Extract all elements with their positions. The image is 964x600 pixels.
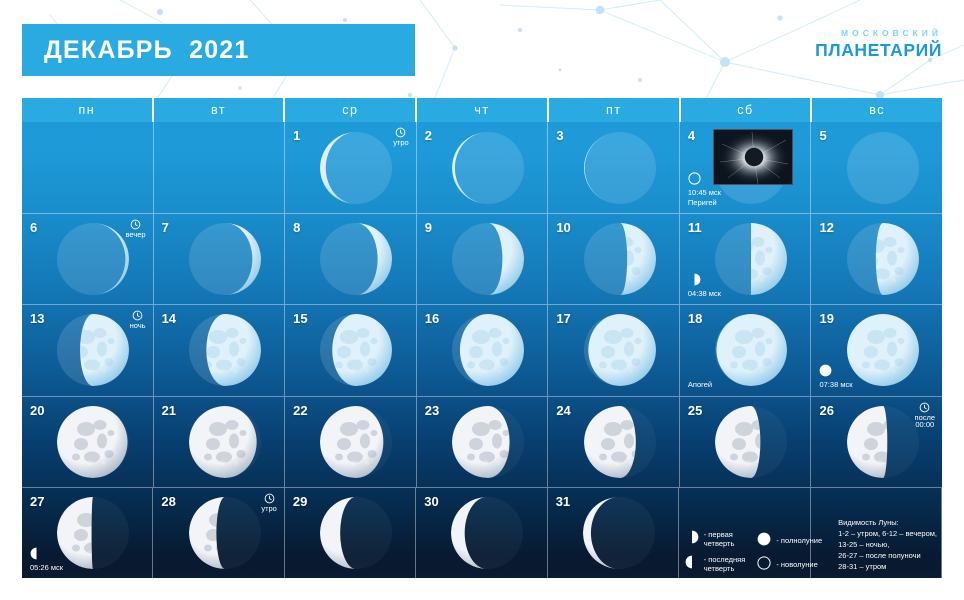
- visibility-label: утро: [261, 505, 277, 513]
- day-number: 28: [161, 494, 175, 509]
- day-number: 7: [162, 220, 169, 235]
- moon-phase-waxing-crescent: [451, 222, 525, 296]
- day-number: 24: [556, 403, 570, 418]
- note-title: Видимость Луны:: [838, 518, 937, 527]
- calendar-day-cell-19[interactable]: 1907:38 мск: [811, 305, 942, 395]
- day-number: 4: [688, 128, 695, 143]
- legend-column-full-new: - полнолуние- новолуние: [751, 532, 828, 573]
- weekday-header-пн: пн: [22, 98, 154, 122]
- calendar-day-cell-22[interactable]: 22: [285, 397, 417, 487]
- moon-visibility-note: Видимость Луны:1-2 – утром, 6-12 – вечер…: [828, 518, 937, 573]
- legend-item-last-quarter: - последняя четверть: [685, 555, 746, 573]
- logo-line-top: МОСКОВСКИЙ: [815, 28, 942, 38]
- day-number: 13: [30, 311, 44, 326]
- weekday-header-ср: ср: [285, 98, 417, 122]
- moon-phase-waning-gibbous: [188, 405, 262, 479]
- moon-phase-waning-crescent: [319, 496, 393, 570]
- day-number: 2: [425, 128, 432, 143]
- legend-item-new-moon: - новолуние: [757, 556, 822, 573]
- day-number: 3: [556, 128, 563, 143]
- visibility-label: ночь: [130, 322, 146, 330]
- calendar-grid: 1утро23410:45 мск Перигей56вечер78910110…: [22, 122, 942, 578]
- visibility-label: утро: [393, 139, 409, 147]
- calendar-day-cell-24[interactable]: 24: [548, 397, 680, 487]
- visibility-label: после 00:00: [915, 414, 936, 430]
- last-quarter-icon: [685, 555, 699, 569]
- moon-phase-waning-crescent: [188, 496, 262, 570]
- day-number: 23: [425, 403, 439, 418]
- visibility-clock-note: вечер: [126, 219, 146, 239]
- moon-phase-waning-crescent: [583, 131, 657, 205]
- clock-icon: [132, 310, 143, 321]
- day-number: 30: [424, 494, 438, 509]
- calendar-week-row: 20212223242526после 00:00: [22, 396, 942, 487]
- weekday-header-вт: вт: [154, 98, 286, 122]
- day-number: 8: [293, 220, 300, 235]
- calendar-empty-cell: [154, 122, 286, 213]
- calendar-day-cell-31[interactable]: 31: [548, 488, 679, 578]
- phase-marker-block: 04:38 мск: [688, 273, 721, 298]
- weekday-header-пт: пт: [549, 98, 681, 122]
- day-number: 6: [30, 220, 37, 235]
- calendar-day-cell-5[interactable]: 5: [811, 122, 942, 213]
- note-line: 26-27 – после полуночи: [838, 551, 937, 562]
- moon-phase-waxing-gibbous: [319, 313, 393, 387]
- calendar-day-cell-7[interactable]: 7: [154, 214, 286, 304]
- moon-phase-waxing-gibbous: [714, 313, 788, 387]
- legend-column-quarters: - первая четверть- последняя четверть: [679, 530, 752, 573]
- day-number: 19: [819, 311, 833, 326]
- solar-eclipse-photo: [713, 129, 793, 185]
- visibility-clock-note: ночь: [130, 310, 146, 330]
- clock-icon: [264, 493, 275, 504]
- calendar-day-cell-1[interactable]: 1утро: [285, 122, 417, 213]
- first-quarter-icon: [688, 273, 701, 286]
- note-line: 13-25 – ночью,: [838, 540, 937, 551]
- moon-phase-new-moon: [846, 131, 920, 205]
- moon-phase-last-quarter: [56, 496, 130, 570]
- calendar-day-cell-27[interactable]: 2705:26 мск: [22, 488, 153, 578]
- visibility-label: вечер: [126, 231, 146, 239]
- moon-phase-waxing-gibbous: [583, 313, 657, 387]
- day-number: 21: [162, 403, 176, 418]
- day-number: 18: [688, 311, 702, 326]
- day-number: 10: [556, 220, 570, 235]
- note-line: 28-31 – утром: [838, 562, 937, 573]
- day-number: 11: [688, 220, 702, 235]
- day-number: 12: [819, 220, 833, 235]
- calendar-week-row: 2705:26 мск28утро293031- первая четверть…: [22, 487, 942, 578]
- phase-time-text: 10:45 мск Перигей: [688, 188, 721, 207]
- clock-icon: [395, 127, 406, 138]
- last-quarter-icon: [30, 547, 43, 560]
- calendar-week-row: 6вечер789101104:38 мск12: [22, 213, 942, 304]
- moon-phase-waxing-gibbous: [451, 313, 525, 387]
- calendar-day-cell-10[interactable]: 10: [548, 214, 680, 304]
- weekday-header-сб: сб: [681, 98, 813, 122]
- day-number: 5: [819, 128, 826, 143]
- moon-phase-waning-gibbous: [583, 405, 657, 479]
- phase-marker-block: 05:26 мск: [30, 547, 63, 572]
- moon-phase-waxing-crescent: [583, 222, 657, 296]
- day-number: 14: [162, 311, 176, 326]
- calendar-day-cell-2[interactable]: 2: [417, 122, 549, 213]
- moon-phase-waning-gibbous: [451, 405, 525, 479]
- phase-time-text: Апогей: [688, 380, 712, 389]
- moon-phase-waxing-gibbous: [188, 313, 262, 387]
- phase-time-text: 04:38 мск: [688, 289, 721, 298]
- phase-marker-block: Апогей: [688, 380, 712, 389]
- calendar-day-cell-28[interactable]: 28утро: [153, 488, 284, 578]
- page-title: ДЕКАБРЬ 2021: [22, 36, 250, 65]
- moon-phase-waning-gibbous: [846, 405, 920, 479]
- calendar-day-cell-14[interactable]: 14: [154, 305, 286, 395]
- day-number: 22: [293, 403, 307, 418]
- calendar-day-cell-4[interactable]: 410:45 мск Перигей: [680, 122, 812, 213]
- calendar-day-cell-17[interactable]: 17: [548, 305, 680, 395]
- calendar-day-cell-18[interactable]: 18Апогей: [680, 305, 812, 395]
- moon-phase-waxing-crescent: [56, 222, 130, 296]
- calendar-day-cell-25[interactable]: 25: [680, 397, 812, 487]
- full-moon-icon: [757, 532, 771, 546]
- visibility-clock-note: утро: [261, 493, 277, 513]
- calendar-day-cell-9[interactable]: 9: [417, 214, 549, 304]
- day-number: 25: [688, 403, 702, 418]
- moon-phase-full-moon: [846, 313, 920, 387]
- legend-label: - новолуние: [776, 560, 817, 569]
- calendar-empty-cell: [22, 122, 154, 213]
- moon-phase-waning-crescent: [582, 496, 656, 570]
- moon-phase-first-quarter: [714, 222, 788, 296]
- note-line: 1-2 – утром, 6-12 – вечером,: [838, 529, 937, 540]
- month-title-banner: ДЕКАБРЬ 2021: [22, 24, 415, 76]
- logo-line-bottom: ПЛАНЕТАРИЙ: [815, 40, 942, 61]
- day-number: 17: [556, 311, 570, 326]
- moon-phase-waning-crescent: [451, 131, 525, 205]
- legend-label: - последняя четверть: [704, 555, 746, 573]
- new-moon-icon: [757, 556, 771, 570]
- calendar-day-cell-15[interactable]: 15: [285, 305, 417, 395]
- phase-marker-block: 10:45 мск Перигей: [688, 172, 721, 207]
- moon-phase-waning-gibbous: [319, 405, 393, 479]
- day-number: 16: [425, 311, 439, 326]
- phase-marker-block: 07:38 мск: [819, 364, 852, 389]
- calendar-day-cell-3[interactable]: 3: [548, 122, 680, 213]
- calendar-day-cell-13[interactable]: 13ночь: [22, 305, 154, 395]
- day-number: 26: [819, 403, 833, 418]
- day-number: 9: [425, 220, 432, 235]
- calendar-day-cell-6[interactable]: 6вечер: [22, 214, 154, 304]
- calendar-day-cell-12[interactable]: 12: [811, 214, 942, 304]
- calendar-day-cell-30[interactable]: 30: [416, 488, 547, 578]
- clock-icon: [919, 402, 930, 413]
- calendar-week-row: 1утро23410:45 мск Перигей5: [22, 122, 942, 213]
- day-number: 27: [30, 494, 44, 509]
- phase-time-text: 05:26 мск: [30, 563, 63, 572]
- calendar-day-cell-8[interactable]: 8: [285, 214, 417, 304]
- moon-phase-waxing-crescent: [188, 222, 262, 296]
- day-number: 20: [30, 403, 44, 418]
- lunar-calendar-page: ДЕКАБРЬ 2021 МОСКОВСКИЙ ПЛАНЕТАРИЙ пнвтс…: [0, 0, 964, 600]
- moon-phase-waxing-crescent: [319, 222, 393, 296]
- day-number: 15: [293, 311, 307, 326]
- day-number: 1: [293, 128, 300, 143]
- calendar-day-cell-21[interactable]: 21: [154, 397, 286, 487]
- visibility-clock-note: после 00:00: [915, 402, 936, 430]
- new-moon-icon: [688, 172, 701, 185]
- legend-item-full-moon: - полнолуние: [757, 532, 822, 549]
- calendar-day-cell-20[interactable]: 20: [22, 397, 154, 487]
- calendar-day-cell-11[interactable]: 1104:38 мск: [680, 214, 812, 304]
- weekday-header-вс: вс: [812, 98, 942, 122]
- clock-icon: [130, 219, 141, 230]
- calendar-day-cell-16[interactable]: 16: [417, 305, 549, 395]
- legend-label: - полнолуние: [776, 536, 822, 545]
- calendar-day-cell-29[interactable]: 29: [285, 488, 416, 578]
- moon-phase-waning-crescent: [319, 131, 393, 205]
- calendar-day-cell-23[interactable]: 23: [417, 397, 549, 487]
- first-quarter-icon: [685, 530, 699, 544]
- calendar-day-cell-26[interactable]: 26после 00:00: [811, 397, 942, 487]
- day-number: 31: [556, 494, 570, 509]
- visibility-clock-note: утро: [393, 127, 409, 147]
- legend-item-first-quarter: - первая четверть: [685, 530, 746, 548]
- calendar: пнвтсрчтптсбвс 1утро23410:45 мск Перигей…: [22, 98, 942, 578]
- planetarium-logo: МОСКОВСКИЙ ПЛАНЕТАРИЙ: [815, 28, 942, 61]
- weekday-header-чт: чт: [417, 98, 549, 122]
- weekday-header-row: пнвтсрчтптсбвс: [22, 98, 942, 122]
- legend-label: - первая четверть: [704, 530, 735, 548]
- calendar-week-row: 13ночь1415161718Апогей1907:38 мск: [22, 304, 942, 395]
- moon-phase-waxing-gibbous: [846, 222, 920, 296]
- moon-phase-waxing-gibbous: [56, 313, 130, 387]
- legend: - первая четверть- последняя четверть- п…: [679, 518, 937, 573]
- full-moon-icon: [819, 364, 832, 377]
- moon-phase-waning-gibbous: [714, 405, 788, 479]
- phase-time-text: 07:38 мск: [819, 380, 852, 389]
- moon-phase-waning-gibbous: [56, 405, 130, 479]
- moon-phase-waning-crescent: [450, 496, 524, 570]
- day-number: 29: [293, 494, 307, 509]
